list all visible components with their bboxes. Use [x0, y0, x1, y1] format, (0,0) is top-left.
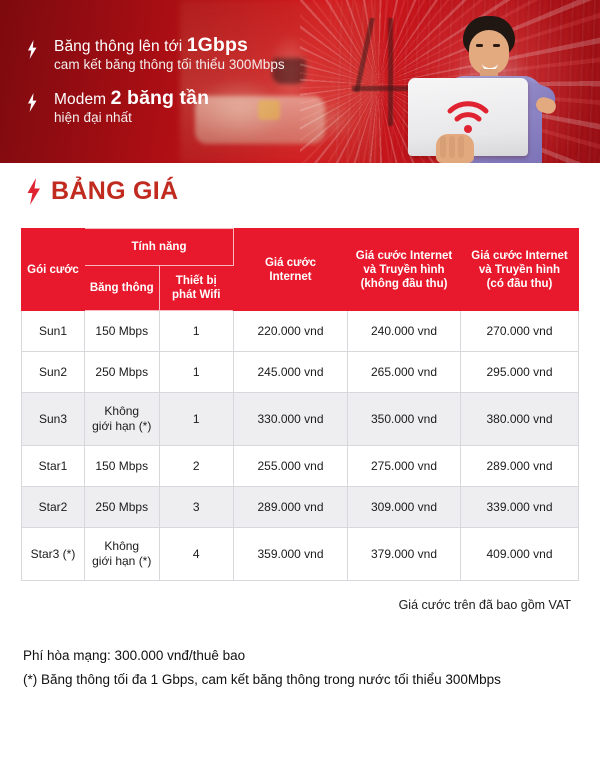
- cell-package: Star1: [22, 446, 85, 487]
- cell-package: Sun1: [22, 311, 85, 352]
- cell-wifi-devices: 2: [159, 446, 234, 487]
- cell-bandwidth-line1: Không: [85, 539, 159, 554]
- cell-bandwidth-line1: Không: [85, 404, 159, 419]
- cell-package: Star2: [22, 487, 85, 528]
- cell-package: Sun3: [22, 393, 85, 446]
- table-row: Sun3Khônggiới hạn (*)1330.000 vnd350.000…: [22, 393, 579, 446]
- cell-internet-price: 330.000 vnd: [234, 393, 348, 446]
- column-header-internet-price: Giá cước Internet: [234, 229, 348, 311]
- cell-bandwidth: Khônggiới hạn (*): [85, 393, 160, 446]
- page-title: BẢNG GIÁ: [51, 178, 178, 205]
- cell-tv-no-box: 275.000 vnd: [348, 446, 461, 487]
- finger-shape: [440, 136, 446, 158]
- column-header-wifi-device: Thiết bị phát Wifi: [159, 266, 234, 311]
- column-header-wifi-device-line1: Thiết bị: [160, 274, 234, 288]
- cell-tv-with-box: 270.000 vnd: [461, 311, 579, 352]
- banner-bullet-2-strong: 2 băng tần: [111, 87, 210, 109]
- banner-bullet-2-line2: hiện đại nhất: [54, 109, 322, 127]
- cell-wifi-devices: 1: [159, 393, 234, 446]
- column-header-tv-with-box: Giá cước Internet và Truyền hình (có đầu…: [461, 229, 579, 311]
- person-illustration: [430, 16, 560, 163]
- column-header-internet-price-line1: Giá cước: [234, 256, 347, 270]
- cell-tv-with-box: 380.000 vnd: [461, 393, 579, 446]
- table-row: Sun1150 Mbps1220.000 vnd240.000 vnd270.0…: [22, 311, 579, 352]
- footnote-installation-fee: Phí hòa mạng: 300.000 vnđ/thuê bao: [23, 644, 501, 668]
- table-row: Star3 (*)Khônggiới hạn (*)4359.000 vnd37…: [22, 528, 579, 581]
- cell-wifi-devices: 4: [159, 528, 234, 581]
- column-header-wifi-device-line2: phát Wifi: [160, 288, 234, 302]
- section-title-row: BẢNG GIÁ: [26, 178, 178, 205]
- banner-bullet-1-prefix: Băng thông lên tới: [54, 38, 187, 55]
- cell-tv-no-box: 350.000 vnd: [348, 393, 461, 446]
- banner-text-block: Băng thông lên tới 1Gbps cam kết băng th…: [22, 36, 322, 142]
- table-body: Sun1150 Mbps1220.000 vnd240.000 vnd270.0…: [22, 311, 579, 581]
- banner-bullet-1: Băng thông lên tới 1Gbps cam kết băng th…: [22, 36, 322, 74]
- table-header-row-1: Gói cước Tính năng Giá cước Internet Giá…: [22, 229, 579, 266]
- cell-wifi-devices: 3: [159, 487, 234, 528]
- price-table: Gói cước Tính năng Giá cước Internet Giá…: [21, 228, 579, 581]
- table-row: Star2250 Mbps3289.000 vnd309.000 vnd339.…: [22, 487, 579, 528]
- cell-internet-price: 255.000 vnd: [234, 446, 348, 487]
- cell-tv-with-box: 295.000 vnd: [461, 352, 579, 393]
- footnote-asterisk: (*) Băng thông tối đa 1 Gbps, cam kết bă…: [23, 668, 501, 692]
- column-header-bandwidth: Băng thông: [85, 266, 160, 311]
- banner-bullet-2-line1: Modem 2 băng tần: [54, 89, 322, 109]
- cell-bandwidth-line2: giới hạn (*): [85, 419, 159, 434]
- cell-tv-with-box: 409.000 vnd: [461, 528, 579, 581]
- cell-tv-no-box: 265.000 vnd: [348, 352, 461, 393]
- column-header-package: Gói cước: [22, 229, 85, 311]
- cell-bandwidth: 150 Mbps: [85, 311, 160, 352]
- column-header-tv-no-box-line1: Giá cước Internet: [348, 249, 460, 263]
- eye-right: [493, 44, 500, 47]
- promo-banner: Băng thông lên tới 1Gbps cam kết băng th…: [0, 0, 600, 163]
- cell-internet-price: 245.000 vnd: [234, 352, 348, 393]
- cell-internet-price: 359.000 vnd: [234, 528, 348, 581]
- wifi-icon: [447, 100, 489, 134]
- cell-wifi-devices: 1: [159, 352, 234, 393]
- cell-package: Star3 (*): [22, 528, 85, 581]
- lightning-bolt-icon: [27, 93, 37, 112]
- eye-left: [476, 44, 483, 47]
- banner-bullet-2: Modem 2 băng tần hiện đại nhất: [22, 89, 322, 127]
- banner-bullet-1-line2: cam kết băng thông tối thiểu 300Mbps: [54, 56, 322, 74]
- cell-bandwidth: 250 Mbps: [85, 487, 160, 528]
- cell-wifi-devices: 1: [159, 311, 234, 352]
- column-header-internet-price-line2: Internet: [234, 270, 347, 284]
- column-header-tv-with-box-line2: và Truyền hình: [461, 263, 578, 277]
- cell-internet-price: 289.000 vnd: [234, 487, 348, 528]
- cell-bandwidth: 250 Mbps: [85, 352, 160, 393]
- column-header-tv-with-box-line3: (có đầu thu): [461, 277, 578, 291]
- banner-bullet-2-prefix: Modem: [54, 91, 111, 108]
- cell-tv-with-box: 339.000 vnd: [461, 487, 579, 528]
- vat-note: Giá cước trên đã bao gồm VAT: [0, 598, 571, 612]
- footnotes: Phí hòa mạng: 300.000 vnđ/thuê bao (*) B…: [23, 644, 501, 692]
- lightning-bolt-icon: [26, 178, 41, 205]
- cell-bandwidth: Khônggiới hạn (*): [85, 528, 160, 581]
- column-header-tv-with-box-line1: Giá cước Internet: [461, 249, 578, 263]
- cell-bandwidth-line2: giới hạn (*): [85, 554, 159, 569]
- cell-tv-no-box: 309.000 vnd: [348, 487, 461, 528]
- column-header-tv-no-box: Giá cước Internet và Truyền hình (không …: [348, 229, 461, 311]
- table-row: Star1150 Mbps2255.000 vnd275.000 vnd289.…: [22, 446, 579, 487]
- finger-shape: [449, 136, 455, 158]
- cell-tv-with-box: 289.000 vnd: [461, 446, 579, 487]
- table-row: Sun2250 Mbps1245.000 vnd265.000 vnd295.0…: [22, 352, 579, 393]
- table-header: Gói cước Tính năng Giá cước Internet Giá…: [22, 229, 579, 311]
- lightning-bolt-icon: [27, 40, 37, 59]
- column-header-tv-no-box-line2: và Truyền hình: [348, 263, 460, 277]
- cell-internet-price: 220.000 vnd: [234, 311, 348, 352]
- banner-bullet-1-line1: Băng thông lên tới 1Gbps: [54, 36, 322, 56]
- number-four-outline: [352, 18, 412, 126]
- cell-package: Sun2: [22, 352, 85, 393]
- cell-tv-no-box: 240.000 vnd: [348, 311, 461, 352]
- finger-shape: [458, 136, 464, 158]
- cell-bandwidth: 150 Mbps: [85, 446, 160, 487]
- column-header-features-group: Tính năng: [85, 229, 234, 266]
- column-header-tv-no-box-line3: (không đầu thu): [348, 277, 460, 291]
- banner-bullet-1-strong: 1Gbps: [187, 34, 248, 56]
- cell-tv-no-box: 379.000 vnd: [348, 528, 461, 581]
